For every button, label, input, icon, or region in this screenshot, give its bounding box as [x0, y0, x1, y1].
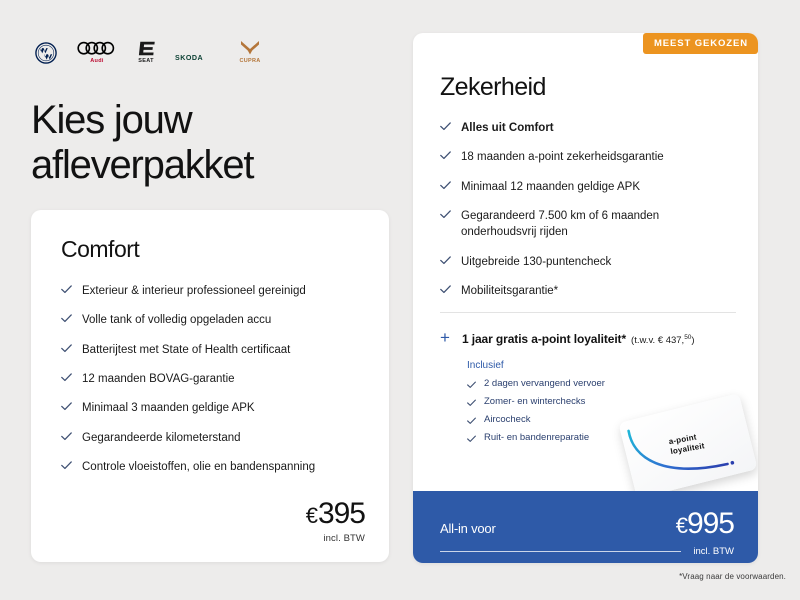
bonus-value-suffix: ): [691, 335, 694, 346]
price-amount: 395: [318, 497, 365, 530]
allin-underline-row: incl. BTW: [440, 546, 734, 557]
check-icon: [61, 461, 72, 470]
divider: [440, 551, 681, 552]
bonus-row: + 1 jaar gratis a-point loyaliteit*(t.w.…: [440, 329, 736, 348]
skoda-logo: SKODA: [175, 51, 219, 64]
check-icon: [440, 256, 451, 265]
page-footnote: *Vraag naar de voorwaarden.: [679, 572, 786, 581]
check-icon: [467, 399, 476, 407]
list-item: Exterieur & interieur professioneel gere…: [61, 283, 365, 299]
list-item: Batterijtest met State of Health certifi…: [61, 342, 365, 358]
comfort-package-card[interactable]: Comfort Exterieur & interieur profession…: [31, 210, 389, 562]
feature-text: Minimaal 12 maanden geldige APK: [461, 179, 640, 195]
comfort-price-note: incl. BTW: [306, 533, 365, 544]
check-icon: [61, 402, 72, 411]
currency-symbol: €: [306, 503, 317, 528]
price-amount: 995: [687, 507, 734, 540]
check-icon: [440, 210, 451, 219]
feature-text: Gegarandeerd 7.500 km of 6 maanden onder…: [461, 208, 736, 241]
bonus-text: 1 jaar gratis a-point loyaliteit*(t.w.v.…: [462, 330, 695, 348]
feature-text: Batterijtest met State of Health certifi…: [82, 342, 290, 358]
zekerheid-title: Zekerheid: [440, 73, 736, 102]
list-item: 12 maanden BOVAG-garantie: [61, 371, 365, 387]
comfort-title: Comfort: [61, 236, 365, 263]
seat-wordmark: SEAT: [138, 59, 153, 65]
list-item: 18 maanden a-point zekerheidsgarantie: [440, 149, 736, 165]
check-icon: [61, 285, 72, 294]
included-list: 2 dagen vervangend vervoer Zomer- en win…: [467, 378, 736, 443]
status-badge: MEEST GEKOZEN: [643, 33, 758, 54]
included-text: 2 dagen vervangend vervoer: [484, 378, 605, 389]
check-icon: [467, 435, 476, 443]
comfort-price-block: €395 incl. BTW: [306, 499, 365, 544]
zekerheid-body: MEEST GEKOZEN Zekerheid Alles uit Comfor…: [413, 33, 758, 443]
allin-label: All-in voor: [440, 521, 496, 536]
audi-wordmark: Audi: [90, 59, 103, 65]
check-icon: [440, 285, 451, 294]
feature-text: Controle vloeistoffen, olie en bandenspa…: [82, 459, 315, 475]
list-item: 2 dagen vervangend vervoer: [467, 378, 736, 389]
cupra-wordmark: CUPRA: [239, 59, 260, 65]
list-item: Gegarandeerde kilometerstand: [61, 430, 365, 446]
bonus-value: (t.w.v. € 437,50): [631, 335, 695, 346]
page-title: Kies jouw afleverpakket: [31, 98, 391, 188]
feature-text: Minimaal 3 maanden geldige APK: [82, 400, 255, 416]
feature-text: 18 maanden a-point zekerheidsgarantie: [461, 149, 664, 165]
check-icon: [440, 181, 451, 190]
list-item: Minimaal 12 maanden geldige APK: [440, 179, 736, 195]
list-item: Aircocheck: [467, 414, 736, 425]
list-item: Gegarandeerd 7.500 km of 6 maanden onder…: [440, 208, 736, 241]
included-text: Zomer- en winterchecks: [484, 396, 585, 407]
feature-text: Uitgebreide 130-puntencheck: [461, 254, 611, 270]
comfort-price: €395: [306, 499, 365, 529]
bonus-value-prefix: (t.w.v. € 437,: [631, 335, 684, 346]
check-icon: [467, 381, 476, 389]
section-divider: [440, 312, 736, 313]
allin-price-bar: All-in voor €995 incl. BTW: [413, 491, 758, 563]
list-item: Controle vloeistoffen, olie en bandenspa…: [61, 459, 365, 475]
list-item: Alles uit Comfort: [440, 120, 736, 136]
promo-page: Audi SEAT SKODA CUPRA Ki: [0, 0, 800, 600]
check-icon: [467, 417, 476, 425]
comfort-feature-list: Exterieur & interieur professioneel gere…: [61, 283, 365, 475]
list-item: Mobiliteitsgarantie*: [440, 283, 736, 299]
check-icon: [61, 344, 72, 353]
svg-text:SKODA: SKODA: [175, 54, 203, 62]
feature-text: 12 maanden BOVAG-garantie: [82, 371, 235, 387]
feature-text: Mobiliteitsgarantie*: [461, 283, 558, 299]
vw-logo: [35, 42, 57, 64]
included-section: Inclusief 2 dagen vervangend vervoer Zom…: [440, 360, 736, 443]
zekerheid-package-card[interactable]: MEEST GEKOZEN Zekerheid Alles uit Comfor…: [413, 33, 758, 563]
feature-text: Gegarandeerde kilometerstand: [82, 430, 241, 446]
allin-price: €995: [676, 509, 734, 539]
seat-logo: SEAT: [137, 39, 155, 65]
left-column: Audi SEAT SKODA CUPRA Ki: [31, 30, 391, 188]
feature-text: Volle tank of volledig opgeladen accu: [82, 312, 271, 328]
zekerheid-feature-list: Alles uit Comfort 18 maanden a-point zek…: [440, 120, 736, 299]
cupra-logo: CUPRA: [239, 39, 261, 65]
included-title: Inclusief: [467, 360, 736, 371]
check-icon: [61, 314, 72, 323]
check-icon: [61, 373, 72, 382]
check-icon: [61, 432, 72, 441]
list-item: Zomer- en winterchecks: [467, 396, 736, 407]
plus-icon: +: [440, 329, 450, 346]
included-text: Ruit- en bandenreparatie: [484, 432, 589, 443]
bonus-label: 1 jaar gratis a-point loyaliteit*: [462, 332, 626, 346]
currency-symbol: €: [676, 513, 687, 538]
list-item: Ruit- en bandenreparatie: [467, 432, 736, 443]
brand-logo-strip: Audi SEAT SKODA CUPRA: [31, 30, 391, 64]
allin-row: All-in voor €995: [440, 509, 734, 539]
list-item: Volle tank of volledig opgeladen accu: [61, 312, 365, 328]
list-item: Minimaal 3 maanden geldige APK: [61, 400, 365, 416]
list-item: Uitgebreide 130-puntencheck: [440, 254, 736, 270]
feature-text: Alles uit Comfort: [461, 120, 554, 136]
audi-logo: Audi: [77, 40, 117, 65]
feature-text: Exterieur & interieur professioneel gere…: [82, 283, 306, 299]
included-text: Aircocheck: [484, 414, 530, 425]
check-icon: [440, 151, 451, 160]
allin-price-note: incl. BTW: [693, 546, 734, 557]
check-icon: [440, 122, 451, 131]
